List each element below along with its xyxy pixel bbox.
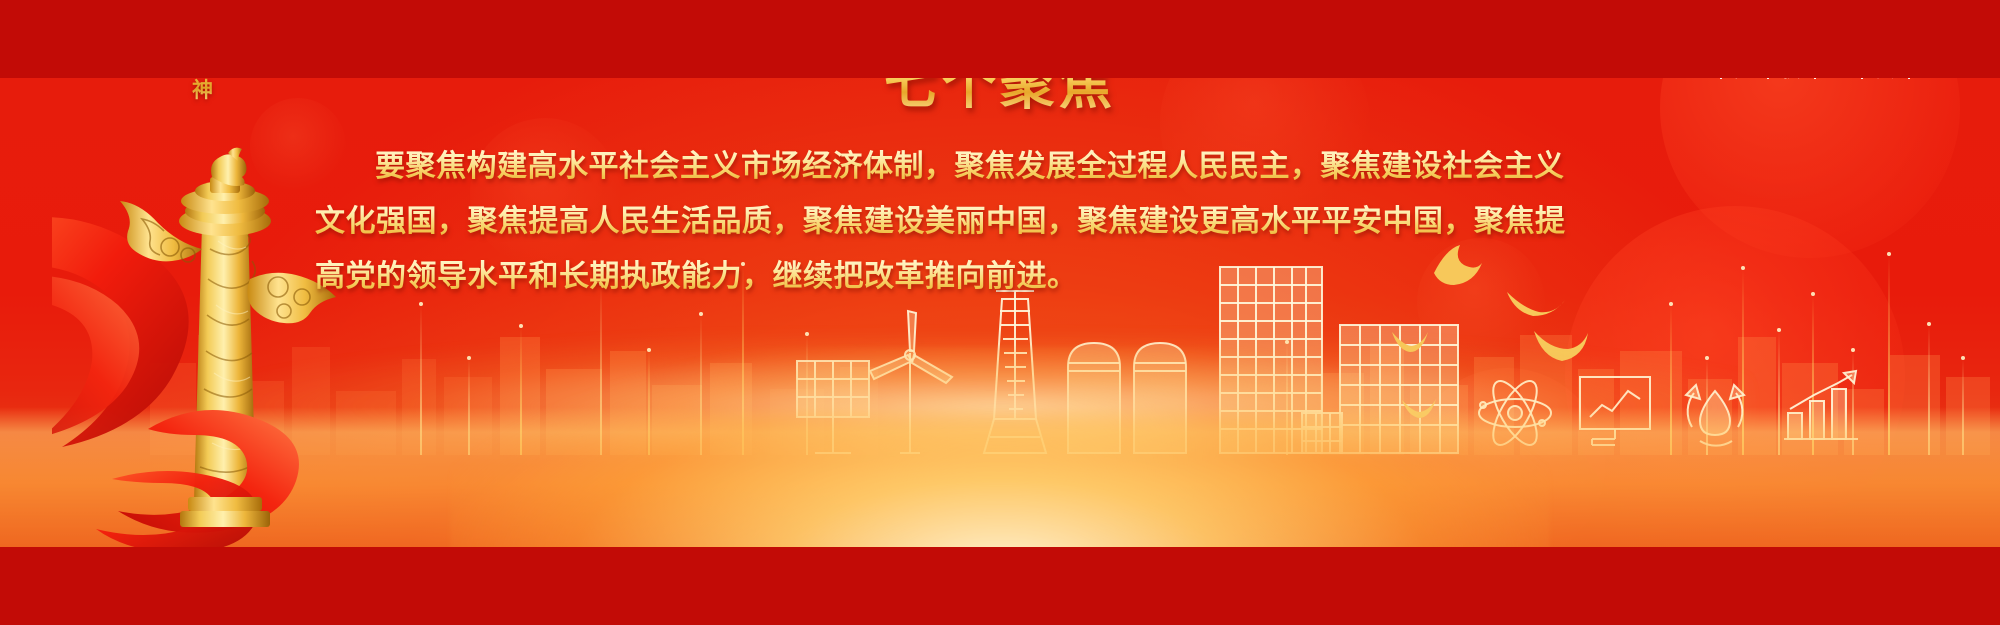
frame-strip-bottom	[0, 547, 2000, 625]
body-line-3: 高党的领导水平和长期执政能力，继续把改革推向前进。	[315, 250, 1685, 305]
frame-strip-top	[0, 0, 2000, 78]
propaganda-banner: 学习宣传贯彻 党的二十届三中全会精神 七个聚焦 要聚焦构建高水平社会主义市场经济…	[0, 0, 2000, 625]
body-line-1: 要聚焦构建高水平社会主义市场经济体制，聚焦发展全过程人民民主，聚焦建设社会主义	[315, 140, 1685, 195]
ground-glow	[450, 347, 1550, 547]
banner-body-text: 要聚焦构建高水平社会主义市场经济体制，聚焦发展全过程人民民主，聚焦建设社会主义 …	[315, 140, 1685, 305]
body-line-2: 文化强国，聚焦提高人民生活品质，聚焦建设美丽中国，聚焦建设更高水平平安中国，聚焦…	[315, 195, 1685, 250]
